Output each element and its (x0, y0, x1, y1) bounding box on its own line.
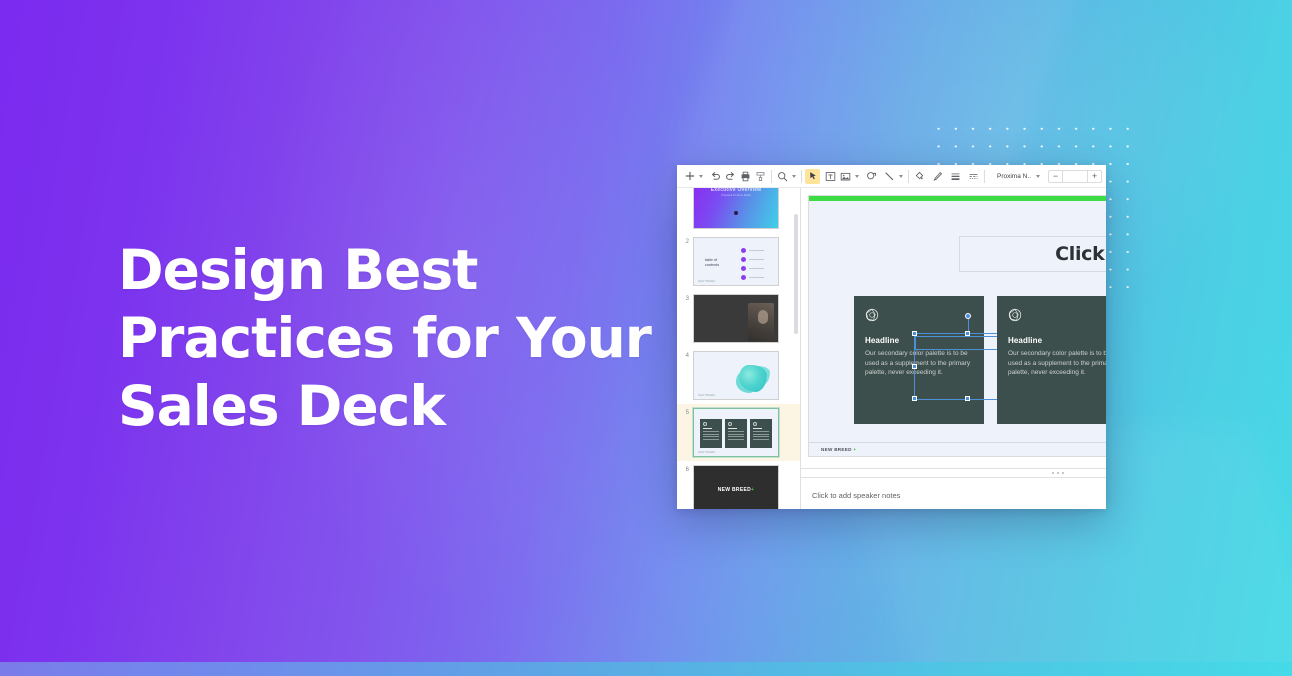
thumb-toc-label: table of contents (705, 258, 731, 268)
page-title-line-1: Design Best (118, 236, 678, 304)
card-body: Our secondary color palette is to be use… (1008, 349, 1106, 378)
slide-card-1[interactable]: Headline Our secondary color palette is … (854, 296, 984, 424)
slide-footer: NEW BREED + (809, 442, 1106, 456)
slide-filmstrip[interactable]: 1 Executive Overview Prepared for Acme R… (677, 188, 801, 509)
slide-thumbnail-5[interactable]: NEW BREED (693, 408, 779, 457)
aperture-icon (753, 422, 757, 426)
font-family-label: Proxima N.. (994, 173, 1034, 180)
thumb-footer: NEW BREED (698, 280, 716, 283)
paint-format-button[interactable] (753, 169, 768, 184)
thumb-line (749, 250, 764, 251)
new-slide-caret-icon[interactable] (697, 169, 705, 183)
speaker-notes-panel[interactable]: Click to add speaker notes (801, 477, 1106, 509)
page-title: Design Best Practices for Your Sales Dec… (118, 236, 678, 440)
bottom-color-band (0, 662, 1292, 676)
resize-handle-w[interactable] (912, 364, 917, 369)
thumb-subtitle: Prepared for Acme Retail (694, 194, 778, 197)
font-size-decrease-button[interactable]: − (1049, 171, 1062, 182)
workspace: 1 Executive Overview Prepared for Acme R… (677, 188, 1106, 509)
thumb-blob-shape (739, 365, 767, 392)
rotation-handle[interactable] (965, 313, 971, 319)
font-size-increase-button[interactable]: + (1088, 171, 1101, 182)
border-weight-button[interactable] (948, 169, 963, 184)
slides-app-window: Proxima N.. − + 1 Executive Overview Pre… (677, 165, 1106, 509)
thumb-line (749, 259, 764, 260)
border-dash-button[interactable] (966, 169, 981, 184)
slide-title-placeholder[interactable]: Click to add t (959, 236, 1106, 272)
thumb-blob (694, 352, 778, 399)
font-caret-icon[interactable] (1034, 169, 1042, 183)
poster-stage: Design Best Practices for Your Sales Dec… (0, 0, 1292, 676)
list-item[interactable]: 4 NEW BREED (677, 347, 800, 404)
aperture-icon (728, 422, 732, 426)
fill-color-button[interactable] (912, 169, 927, 184)
thumb-logo-dark: NEW BREED+ (694, 466, 778, 509)
thumb-gradient-bg: Executive Overview Prepared for Acme Ret… (694, 188, 778, 228)
slide-accent-bar (809, 196, 1106, 201)
slide-number: 4 (679, 351, 689, 359)
speaker-notes-placeholder: Click to add speaker notes (812, 491, 900, 500)
line-caret-icon[interactable] (897, 169, 905, 183)
thumb-toc-items (741, 248, 764, 284)
slide-editor-area[interactable]: Click to add t (801, 188, 1106, 468)
slide-thumbnail-3[interactable] (693, 294, 779, 343)
slide-number: 6 (679, 465, 689, 473)
aperture-icon (703, 422, 707, 426)
resize-handle-sw[interactable] (912, 396, 917, 401)
zoom-caret-icon[interactable] (790, 169, 798, 183)
image-caret-icon[interactable] (853, 169, 861, 183)
redo-button[interactable] (723, 169, 738, 184)
select-tool-button[interactable] (805, 169, 820, 184)
current-slide[interactable]: Click to add t (808, 195, 1106, 457)
aperture-icon (1008, 308, 1106, 327)
drag-handle-icon[interactable] (1052, 472, 1064, 474)
bullet-icon (741, 248, 746, 253)
text-box-button[interactable] (823, 169, 838, 184)
thumb-line (749, 277, 764, 278)
new-slide-button[interactable] (682, 169, 697, 184)
thumb-footer: NEW BREED (698, 394, 716, 397)
thumb-footer: NEW BREED (698, 451, 716, 454)
shape-button[interactable] (864, 169, 879, 184)
slide-thumbnail-2[interactable]: table of contents NEW BREED (693, 237, 779, 286)
canvas-pane: Click to add t (801, 188, 1106, 509)
bullet-icon (741, 275, 746, 280)
slide-thumbnail-6[interactable]: NEW BREED+ (693, 465, 779, 509)
bullet-icon (741, 266, 746, 271)
slide-footer-text: NEW BREED + (821, 447, 856, 452)
notes-resize-divider[interactable] (801, 468, 1106, 477)
font-size-input[interactable] (1062, 171, 1088, 182)
print-button[interactable] (738, 169, 753, 184)
slide-thumbnail-4[interactable]: NEW BREED (693, 351, 779, 400)
thumb-logo-text: NEW BREED+ (694, 487, 778, 493)
thumb-line (749, 268, 764, 269)
thumb-photo-dark (694, 295, 778, 342)
list-item[interactable]: 6 NEW BREED+ (677, 461, 800, 509)
list-item[interactable]: 1 Executive Overview Prepared for Acme R… (677, 188, 800, 233)
line-button[interactable] (882, 169, 897, 184)
list-item[interactable]: 2 table of contents NEW BR (677, 233, 800, 290)
aperture-icon (865, 308, 973, 327)
slide-number: 2 (679, 237, 689, 245)
card-headline: Headline (1008, 336, 1106, 345)
thumb-toc: table of contents (694, 238, 778, 285)
insert-image-button[interactable] (838, 169, 853, 184)
slide-card-2[interactable]: Headline Our secondary color palette is … (997, 296, 1106, 424)
thumb-photo-figure (748, 303, 774, 341)
thumb-dot-decoration (734, 211, 738, 215)
font-size-stepper[interactable]: − + (1048, 170, 1102, 183)
page-title-line-3: Sales Deck (118, 372, 678, 440)
undo-button[interactable] (708, 169, 723, 184)
slide-number: 3 (679, 294, 689, 302)
resize-handle-s[interactable] (965, 396, 970, 401)
slide-title-text: Click to add t (1055, 243, 1106, 265)
thumb-title: Executive Overview (694, 188, 778, 193)
slide-thumbnail-1[interactable]: Executive Overview Prepared for Acme Ret… (693, 188, 779, 229)
filmstrip-scrollbar[interactable] (794, 214, 798, 334)
slide-number: 5 (679, 408, 689, 416)
toolbar: Proxima N.. − + (677, 165, 1106, 188)
list-item[interactable]: 5 NEW BREED (677, 404, 800, 461)
thumb-cards (694, 409, 778, 456)
slide-cards-row: Headline Our secondary color palette is … (854, 296, 1106, 424)
border-color-button[interactable] (930, 169, 945, 184)
page-title-line-2: Practices for Your (118, 304, 678, 372)
bullet-icon (741, 257, 746, 262)
font-family-selector[interactable]: Proxima N.. (994, 169, 1042, 183)
zoom-button[interactable] (775, 169, 790, 184)
list-item[interactable]: 3 (677, 290, 800, 347)
